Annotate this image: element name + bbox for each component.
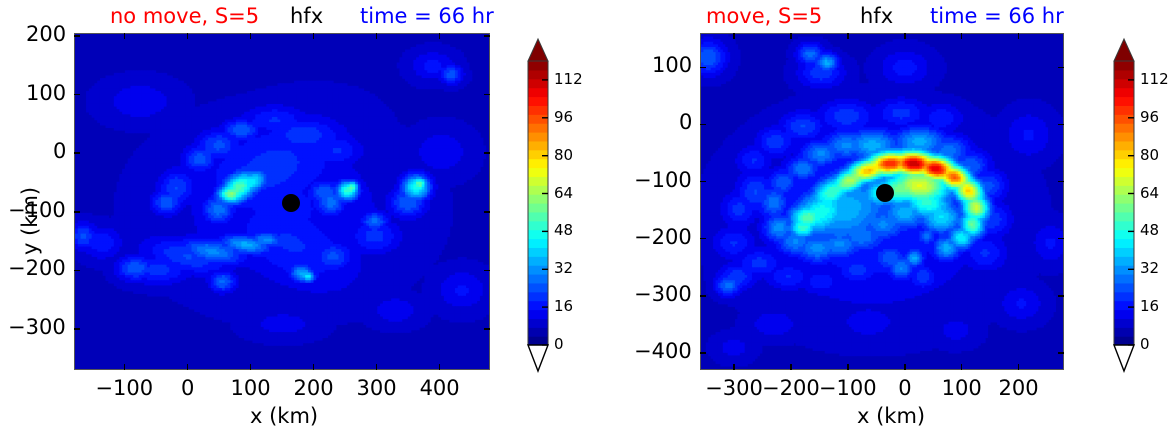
y-axis-tick (1058, 67, 1064, 69)
y-axis-tick-label: −400 (634, 339, 692, 363)
y-axis-tick (74, 152, 80, 154)
x-axis-tick-label: 200 (294, 376, 334, 400)
y-axis-tick (1058, 295, 1064, 297)
y-axis-tick-label: 200 (26, 22, 66, 46)
y-axis-tick-label: 100 (652, 53, 692, 77)
y-axis-tick (74, 328, 80, 330)
figure-root: no move, S=5 hfx time = 66 hr y (km) x (… (0, 0, 1176, 447)
y-axis-tick (484, 35, 490, 37)
y-axis-tick (484, 270, 490, 272)
y-axis-tick (1058, 352, 1064, 354)
y-axis-tick-label: −300 (634, 282, 692, 306)
colorbar-tick-label: 96 (1140, 108, 1159, 126)
x-axis-tick (961, 364, 963, 370)
colorbar-tick-label: 48 (554, 221, 573, 239)
colorbar-tick-label: 16 (1140, 297, 1159, 315)
y-axis-tick (484, 94, 490, 96)
x-axis-tick-label: −100 (819, 376, 877, 400)
y-axis-tick (484, 211, 490, 213)
x-axis-tick (847, 364, 849, 370)
colorbar-tick-label: 32 (554, 259, 573, 277)
y-axis-tick (74, 211, 80, 213)
colorbar-tick-label: 112 (554, 70, 583, 88)
right-field-svg (701, 34, 1064, 370)
y-axis-tick-label: −300 (8, 315, 66, 339)
x-axis-tick-label: 100 (942, 376, 982, 400)
x-axis-tick (904, 33, 906, 39)
x-axis-tick (790, 33, 792, 39)
colorbar-tick-label: 64 (554, 184, 573, 202)
y-axis-tick (700, 238, 706, 240)
colorbar-tick-label: 112 (1140, 70, 1169, 88)
right-title-variable: hfx (860, 4, 893, 28)
left-title-case: no move, S=5 (110, 4, 259, 28)
y-axis-tick (74, 35, 80, 37)
y-axis-tick (700, 124, 706, 126)
y-axis-tick (74, 94, 80, 96)
x-axis-tick (313, 33, 315, 39)
left-colorbar (527, 35, 549, 375)
y-axis-tick-label: 0 (53, 139, 66, 163)
right-title-time: time = 66 hr (930, 4, 1064, 28)
y-axis-tick-label: −200 (634, 225, 692, 249)
x-axis-tick (847, 33, 849, 39)
y-axis-tick-label: −100 (634, 168, 692, 192)
x-axis-tick (187, 33, 189, 39)
left-title-variable: hfx (290, 4, 323, 28)
x-axis-tick-label: 0 (898, 376, 911, 400)
y-axis-tick-label: −100 (8, 198, 66, 222)
x-axis-tick (439, 364, 441, 370)
x-axis-tick (376, 364, 378, 370)
y-axis-tick (700, 181, 706, 183)
y-axis-tick (1058, 181, 1064, 183)
colorbar-tick-label: 96 (554, 108, 573, 126)
left-title-time: time = 66 hr (360, 4, 494, 28)
right-colorbar-gradient (1113, 35, 1135, 375)
x-axis-tick (439, 33, 441, 39)
right-x-axis-label: x (km) (857, 404, 925, 428)
x-axis-tick (733, 33, 735, 39)
x-axis-tick (733, 364, 735, 370)
x-axis-tick (376, 33, 378, 39)
x-axis-tick (790, 364, 792, 370)
x-axis-tick (1018, 364, 1020, 370)
x-axis-tick-label: 100 (230, 376, 270, 400)
y-axis-tick (74, 270, 80, 272)
y-axis-tick (700, 352, 706, 354)
x-axis-tick-label: 400 (420, 376, 460, 400)
colorbar-tick-label: 80 (1140, 146, 1159, 164)
colorbar-tick-label: 80 (554, 146, 573, 164)
x-axis-tick-label: −200 (762, 376, 820, 400)
x-axis-tick (1018, 33, 1020, 39)
y-axis-tick-label: −200 (8, 256, 66, 280)
colorbar-tick-label: 0 (554, 335, 564, 353)
x-axis-tick (961, 33, 963, 39)
x-axis-tick-label: 200 (999, 376, 1039, 400)
x-axis-tick-label: −100 (95, 376, 153, 400)
x-axis-tick (250, 33, 252, 39)
left-colorbar-gradient (527, 35, 549, 375)
x-axis-tick-label: −300 (705, 376, 763, 400)
x-axis-tick (313, 364, 315, 370)
y-axis-tick-label: 100 (26, 81, 66, 105)
colorbar-tick-label: 0 (1140, 335, 1150, 353)
x-axis-tick (904, 364, 906, 370)
left-x-axis-label: x (km) (250, 404, 318, 428)
x-axis-tick (124, 33, 126, 39)
y-axis-tick (484, 152, 490, 154)
y-axis-tick (1058, 124, 1064, 126)
x-axis-tick (187, 364, 189, 370)
x-axis-tick-label: 300 (357, 376, 397, 400)
y-axis-tick (700, 295, 706, 297)
right-storm-center-marker (876, 184, 894, 202)
y-axis-tick (1058, 238, 1064, 240)
x-axis-tick (250, 364, 252, 370)
x-axis-tick-label: 0 (181, 376, 194, 400)
y-axis-tick-label: 0 (679, 110, 692, 134)
right-colorbar (1113, 35, 1135, 375)
y-axis-tick (700, 67, 706, 69)
colorbar-tick-label: 48 (1140, 221, 1159, 239)
colorbar-tick-label: 16 (554, 297, 573, 315)
right-title-case: move, S=5 (706, 4, 822, 28)
colorbar-tick-label: 64 (1140, 184, 1159, 202)
colorbar-tick-label: 32 (1140, 259, 1159, 277)
y-axis-tick (484, 328, 490, 330)
x-axis-tick (124, 364, 126, 370)
